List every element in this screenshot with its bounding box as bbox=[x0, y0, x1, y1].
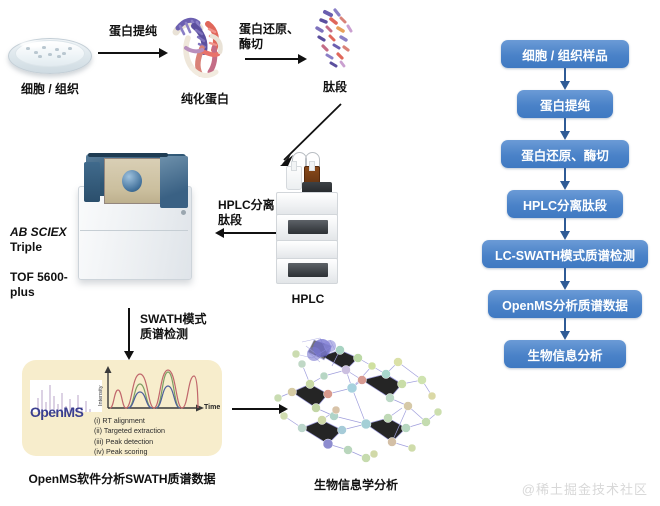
flow-step-6[interactable]: OpenMS分析质谱数据 bbox=[488, 290, 642, 318]
flow-step-7[interactable]: 生物信息分析 bbox=[504, 340, 626, 368]
openms-step-1: (i) RT alignment bbox=[94, 416, 218, 426]
flow-step-3[interactable]: 蛋白还原、酶切 bbox=[501, 140, 629, 168]
flow-connector-3 bbox=[470, 168, 660, 190]
ms-model-a: Triple bbox=[10, 240, 42, 254]
label-swath-detection: SWATH模式 质谱检测 bbox=[140, 312, 218, 342]
flow-step-4[interactable]: HPLC分离肽段 bbox=[507, 190, 623, 218]
label-bioinformatics: 生物信息学分析 bbox=[288, 478, 424, 493]
mass-spectrometer-icon bbox=[78, 148, 194, 284]
openms-steps-list: (i) RT alignment (ii) Targeted extractio… bbox=[94, 416, 218, 458]
flow-step-4-label: HPLC分离肽段 bbox=[523, 195, 607, 214]
arrow-purification bbox=[98, 48, 168, 58]
label-cells-tissue: 细胞 / 组织 bbox=[4, 82, 96, 97]
openms-step-4: (iv) Peak scoring bbox=[94, 447, 218, 457]
label-mass-spectrometer: AB SCIEX Triple TOF 5600-plus bbox=[10, 210, 90, 300]
flow-connector-4 bbox=[470, 218, 660, 240]
diagram-canvas: 细胞 / 组织 蛋白提纯 纯化蛋 bbox=[0, 0, 660, 506]
watermark: @稀土掘金技术社区 bbox=[522, 479, 648, 498]
ms-model-b: TOF 5600-plus bbox=[10, 270, 68, 299]
flow-step-2[interactable]: 蛋白提纯 bbox=[517, 90, 613, 118]
ms-brand: AB SCIEX bbox=[10, 225, 67, 239]
arrow-hplc-to-ms bbox=[215, 228, 283, 238]
flow-step-7-label: 生物信息分析 bbox=[527, 345, 602, 364]
flow-step-6-label: OpenMS分析质谱数据 bbox=[502, 295, 628, 314]
hplc-instrument-icon bbox=[276, 152, 340, 292]
arrow-swath-detection bbox=[124, 308, 134, 360]
flow-step-5[interactable]: LC-SWATH模式质谱检测 bbox=[482, 240, 648, 268]
flow-step-3-label: 蛋白还原、酶切 bbox=[521, 145, 609, 164]
flow-step-1[interactable]: 细胞 / 组织样品 bbox=[501, 40, 629, 68]
flow-step-1-label: 细胞 / 组织样品 bbox=[522, 45, 607, 64]
label-protein-purification: 蛋白提纯 bbox=[92, 24, 174, 39]
network-graph-icon bbox=[262, 336, 452, 466]
openms-x-axis-label: Time bbox=[204, 404, 220, 411]
protein-ribbon-icon bbox=[168, 8, 242, 84]
flow-step-2-label: 蛋白提纯 bbox=[540, 95, 590, 114]
flow-connector-6 bbox=[470, 318, 660, 340]
label-peptides: 肽段 bbox=[303, 80, 367, 95]
openms-step-3: (iii) Peak detection bbox=[94, 437, 218, 447]
process-flowchart: 细胞 / 组织样品 蛋白提纯 蛋白还原、酶切 HPLC分离肽段 LC-SWATH… bbox=[470, 40, 660, 368]
label-openms-panel: OpenMS软件分析SWATH质谱数据 bbox=[16, 472, 228, 487]
peptide-fragments-icon bbox=[305, 6, 367, 78]
flow-connector-5 bbox=[470, 268, 660, 290]
flow-step-5-label: LC-SWATH模式质谱检测 bbox=[495, 245, 635, 264]
openms-logo-text: OpenMS bbox=[30, 404, 83, 420]
openms-step-2: (ii) Targeted extraction bbox=[94, 426, 218, 436]
label-purified-protein: 纯化蛋白 bbox=[163, 92, 247, 107]
openms-y-axis-label: Intensity bbox=[98, 386, 104, 406]
arrow-digestion bbox=[245, 54, 307, 64]
petri-dish-icon bbox=[8, 32, 92, 80]
flow-connector-2 bbox=[470, 118, 660, 140]
openms-panel: OpenMS Intensity Time (i) RT alignment bbox=[22, 360, 222, 456]
label-hplc: HPLC bbox=[274, 292, 342, 307]
flow-connector-1 bbox=[470, 68, 660, 90]
openms-chromatogram-chart: Intensity Time bbox=[94, 366, 214, 414]
